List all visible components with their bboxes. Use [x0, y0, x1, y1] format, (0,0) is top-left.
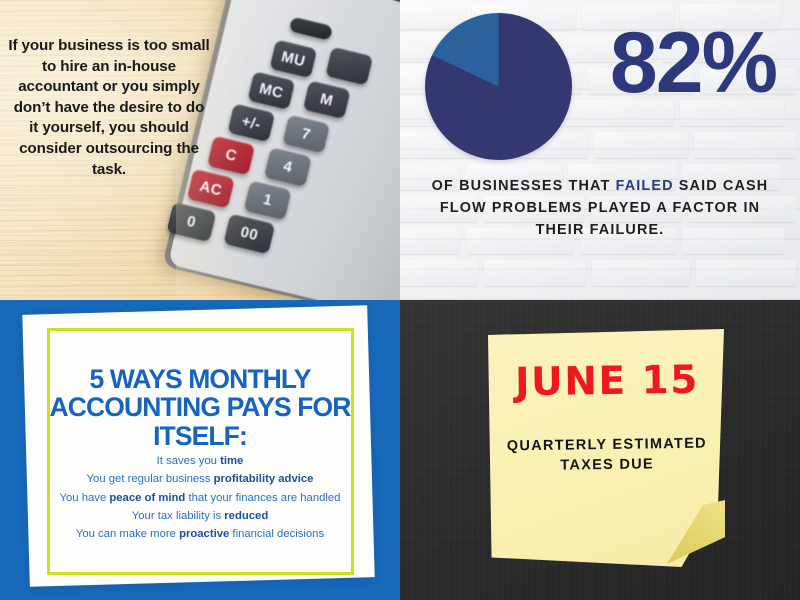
- item-after: that your finances are handled: [185, 492, 340, 504]
- quote-text: If your business is too small to hire an…: [8, 36, 210, 180]
- calculator-key-mplus: M: [303, 80, 351, 119]
- item-before: You have: [60, 492, 110, 504]
- caption-highlight: FAILED: [616, 178, 674, 194]
- item-bold: peace of mind: [109, 492, 185, 504]
- stat-caption: OF BUSINESSES THAT FAILED SAID CASH FLOW…: [416, 176, 784, 242]
- calculator-key-7: 7: [282, 114, 330, 153]
- calculator-slider: [289, 16, 333, 40]
- calculator-key-blank1: [325, 47, 373, 86]
- list-item: You can make more proactive financial de…: [50, 525, 350, 543]
- monthly-accounting-benefits-panel: 5 WAYS MONTHLY ACCOUNTING PAYS FOR ITSEL…: [0, 300, 400, 600]
- list-item: You get regular business profitability a…: [50, 470, 350, 488]
- tax-deadline-panel: JUNE 15 QUARTERLY ESTIMATED TAXES DUE: [400, 300, 800, 600]
- item-before: Your tax liability is: [132, 510, 225, 522]
- item-bold: reduced: [224, 510, 268, 522]
- calculator-key-1: 1: [244, 180, 292, 220]
- calculator-key-plusminus: +/-: [227, 103, 275, 142]
- calculator-key-0: 0: [166, 202, 216, 242]
- item-before: It saves you: [157, 455, 220, 467]
- calculator-key-00: 00: [223, 213, 275, 254]
- list-item: Your tax liability is reduced: [50, 507, 350, 525]
- item-bold: time: [220, 455, 243, 467]
- item-after: financial decisions: [229, 528, 324, 540]
- cash-flow-stat-panel: 82% OF BUSINESSES THAT FAILED SAID CASH …: [400, 0, 800, 300]
- list-item: You have peace of mind that your finance…: [50, 489, 350, 507]
- benefits-list: It saves you time You get regular busine…: [50, 452, 350, 543]
- outsourcing-quote-panel: MU MC M +/- 7 C 4 AC 1 0 00 If your busi…: [0, 0, 400, 300]
- infographic-collage: MU MC M +/- 7 C 4 AC 1 0 00 If your busi…: [0, 0, 800, 600]
- caption-before: OF BUSINESSES THAT: [432, 178, 616, 194]
- calculator-key-c: C: [207, 135, 255, 175]
- calculator-key-4: 4: [264, 147, 312, 187]
- calculator-key-mc: MC: [247, 71, 295, 110]
- deadline-subtitle: QUARTERLY ESTIMATED TAXES DUE: [492, 433, 723, 476]
- calculator-key-mu: MU: [269, 39, 317, 78]
- item-bold: proactive: [179, 528, 229, 540]
- item-bold: profitability advice: [214, 473, 314, 485]
- stat-percentage: 82%: [586, 20, 800, 106]
- list-item: It saves you time: [50, 452, 350, 470]
- item-before: You get regular business: [87, 473, 214, 485]
- deadline-date: JUNE 15: [492, 360, 723, 402]
- item-before: You can make more: [76, 528, 179, 540]
- benefits-title: 5 WAYS MONTHLY ACCOUNTING PAYS FOR ITSEL…: [40, 365, 360, 450]
- failure-pie-chart: [425, 13, 572, 160]
